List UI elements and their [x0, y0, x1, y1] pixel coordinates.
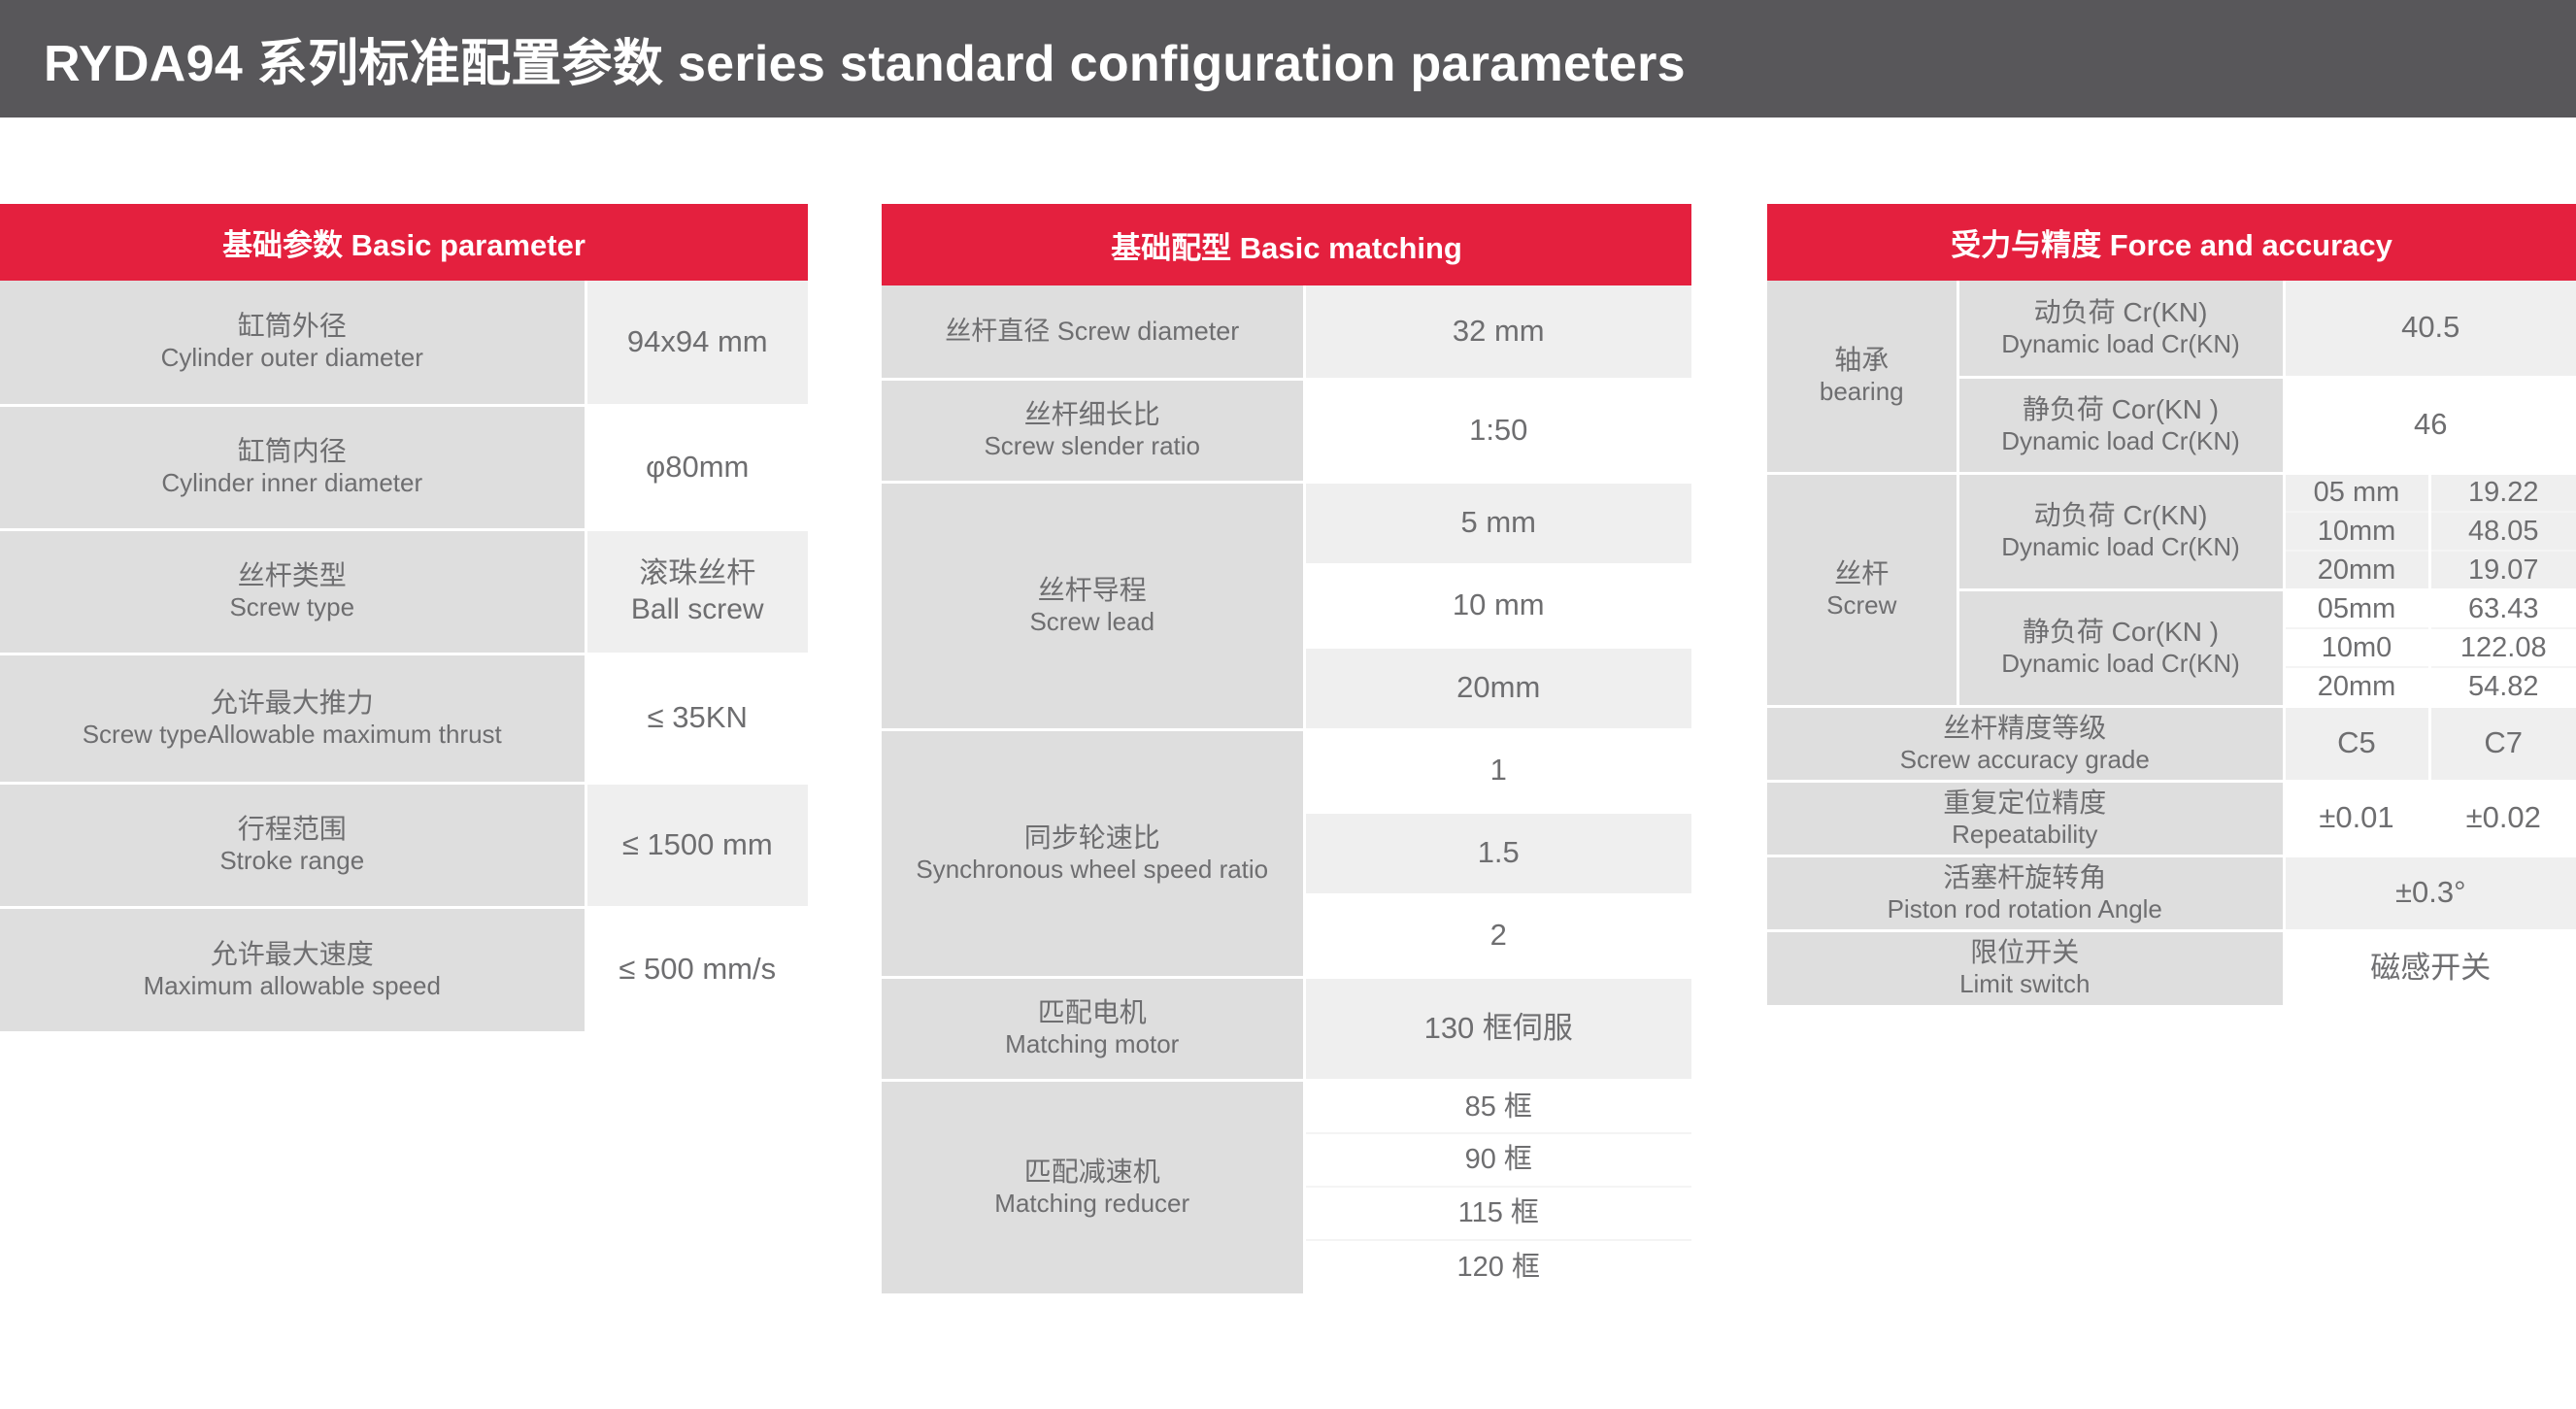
subvalue-number: 48.05 — [2429, 512, 2576, 551]
table-row: 限位开关 Limit switch 磁感开关 — [1767, 930, 2576, 1005]
table-basic-matching: 丝杆直径 Screw diameter 32 mm 丝杆细长比 Screw sl… — [882, 285, 1691, 1293]
label-en: Maximum allowable speed — [4, 971, 581, 1002]
label-cn: 动负荷 Cr(KN) — [1963, 499, 2279, 532]
row-value: 115 框 — [1304, 1187, 1691, 1240]
table-row: 匹配电机 Matching motor 130 框伺服 — [882, 977, 1691, 1080]
subvalue-number: 122.08 — [2429, 628, 2576, 667]
label-en: Screw lead — [886, 607, 1299, 638]
label-en: Stroke range — [4, 846, 581, 877]
table-row: 缸筒外径 Cylinder outer diameter 94x94 mm — [0, 281, 808, 405]
row-value: 20mm — [1304, 647, 1691, 729]
table-row: 丝杆细长比 Screw slender ratio 1:50 — [882, 379, 1691, 482]
label-en: Dynamic load Cr(KN) — [1963, 532, 2279, 563]
row-label: 动负荷 Cr(KN) Dynamic load Cr(KN) — [1957, 473, 2284, 589]
group-label-en: bearing — [1771, 377, 1953, 408]
row-value-b: C7 — [2429, 706, 2576, 781]
row-label: 丝杆类型 Screw type — [0, 529, 585, 654]
label-en: Screw slender ratio — [886, 431, 1299, 462]
row-value: 1:50 — [1304, 379, 1691, 482]
label-cn: 丝杆精度等级 — [1771, 712, 2279, 745]
row-value: 滚珠丝杆 Ball screw — [585, 529, 808, 654]
row-label: 允许最大速度 Maximum allowable speed — [0, 907, 585, 1031]
label-en: Synchronous wheel speed ratio — [886, 855, 1299, 886]
row-value-b: ±0.02 — [2429, 781, 2576, 855]
row-value: ≤ 500 mm/s — [585, 907, 808, 1031]
row-value: 2 — [1304, 894, 1691, 977]
label-cn: 限位开关 — [1771, 936, 2279, 969]
row-value: 32 mm — [1304, 285, 1691, 379]
row-label: 缸筒外径 Cylinder outer diameter — [0, 281, 585, 405]
row-label: 活塞杆旋转角 Piston rod rotation Angle — [1767, 855, 2284, 930]
row-value: ≤ 1500 mm — [585, 783, 808, 907]
row-value: ≤ 35KN — [585, 654, 808, 783]
row-label: 丝杆直径 Screw diameter — [882, 285, 1304, 379]
row-label: 动负荷 Cr(KN) Dynamic load Cr(KN) — [1957, 281, 2284, 377]
label-en: Piston rod rotation Angle — [1771, 894, 2279, 925]
label-en: Dynamic load Cr(KN) — [1963, 329, 2279, 360]
panel-header-basic-matching: 基础配型 Basic matching — [882, 204, 1691, 285]
panel-basic-parameter: 基础参数 Basic parameter 缸筒外径 Cylinder outer… — [0, 204, 808, 1031]
row-label: 丝杆精度等级 Screw accuracy grade — [1767, 706, 2284, 781]
spec-sheet-page: RYDA94 系列标准配置参数 series standard configur… — [0, 0, 2576, 1409]
subvalue-number: 19.07 — [2429, 551, 2576, 589]
row-label: 丝杆细长比 Screw slender ratio — [882, 379, 1304, 482]
table-row: 允许最大推力 Screw typeAllowable maximum thrus… — [0, 654, 808, 783]
page-title: RYDA94 系列标准配置参数 series standard configur… — [0, 22, 1686, 95]
label-cn: 允许最大速度 — [4, 938, 581, 971]
label-cn: 行程范围 — [4, 813, 581, 846]
subvalue-number: 19.22 — [2429, 473, 2576, 512]
row-label: 同步轮速比 Synchronous wheel speed ratio — [882, 729, 1304, 977]
group-label-cn: 轴承 — [1771, 344, 1953, 377]
panel-basic-matching: 基础配型 Basic matching 丝杆直径 Screw diameter … — [882, 204, 1691, 1293]
label-cn: 允许最大推力 — [4, 687, 581, 720]
table-row: 活塞杆旋转角 Piston rod rotation Angle ±0.3° — [1767, 855, 2576, 930]
label-en: Screw typeAllowable maximum thrust — [4, 720, 581, 751]
table-row: 缸筒内径 Cylinder inner diameter φ80mm — [0, 405, 808, 529]
panel-force-accuracy: 受力与精度 Force and accuracy 轴承 bearing 动负荷 … — [1767, 204, 2576, 1005]
label-en: Dynamic load Cr(KN) — [1963, 649, 2279, 680]
label-en: Dynamic load Cr(KN) — [1963, 426, 2279, 457]
page-banner: RYDA94 系列标准配置参数 series standard configur… — [0, 0, 2576, 117]
label-cn: 静负荷 Cor(KN ) — [1963, 393, 2279, 426]
label-cn: 丝杆细长比 — [886, 398, 1299, 431]
table-row: 允许最大速度 Maximum allowable speed ≤ 500 mm/… — [0, 907, 808, 1031]
row-value: 94x94 mm — [585, 281, 808, 405]
label-cn: 静负荷 Cor(KN ) — [1963, 616, 2279, 649]
label-cn: 缸筒外径 — [4, 310, 581, 343]
row-value: 130 框伺服 — [1304, 977, 1691, 1080]
table-row: 丝杆导程 Screw lead 5 mm — [882, 482, 1691, 564]
label-en: Screw type — [4, 592, 581, 623]
row-label: 缸筒内径 Cylinder inner diameter — [0, 405, 585, 529]
table-row: 同步轮速比 Synchronous wheel speed ratio 1 — [882, 729, 1691, 812]
label-en: Matching reducer — [886, 1189, 1299, 1220]
table-force-accuracy: 轴承 bearing 动负荷 Cr(KN) Dynamic load Cr(KN… — [1767, 281, 2576, 1005]
label-cn: 活塞杆旋转角 — [1771, 861, 2279, 894]
table-row: 丝杆 Screw 动负荷 Cr(KN) Dynamic load Cr(KN) … — [1767, 473, 2576, 512]
label-cn: 动负荷 Cr(KN) — [1963, 296, 2279, 329]
subvalue-key: 20mm — [2284, 551, 2429, 589]
row-value: 1 — [1304, 729, 1691, 812]
label-cn: 重复定位精度 — [1771, 787, 2279, 820]
table-row: 重复定位精度 Repeatability ±0.01 ±0.02 — [1767, 781, 2576, 855]
label-cn: 匹配减速机 — [886, 1156, 1299, 1189]
value-cn: 滚珠丝杆 — [591, 555, 805, 592]
row-value: 5 mm — [1304, 482, 1691, 564]
label-cn: 丝杆导程 — [886, 574, 1299, 607]
label-en: Cylinder outer diameter — [4, 343, 581, 374]
group-label-cn: 丝杆 — [1771, 557, 1953, 590]
table-row: 轴承 bearing 动负荷 Cr(KN) Dynamic load Cr(KN… — [1767, 281, 2576, 377]
table-row: 丝杆直径 Screw diameter 32 mm — [882, 285, 1691, 379]
label-cn: 匹配电机 — [886, 996, 1299, 1029]
label-en: Screw accuracy grade — [1771, 745, 2279, 776]
group-label-en: Screw — [1771, 590, 1953, 621]
row-label: 匹配电机 Matching motor — [882, 977, 1304, 1080]
table-row: 丝杆类型 Screw type 滚珠丝杆 Ball screw — [0, 529, 808, 654]
subvalue-key: 05 mm — [2284, 473, 2429, 512]
row-value: 10 mm — [1304, 564, 1691, 647]
label-en: Matching motor — [886, 1029, 1299, 1060]
label-cn: 丝杆类型 — [4, 559, 581, 592]
row-value: 46 — [2284, 377, 2576, 473]
label-en: Repeatability — [1771, 820, 2279, 851]
label-en: Limit switch — [1771, 969, 2279, 1000]
row-value: 90 框 — [1304, 1133, 1691, 1187]
row-label: 匹配减速机 Matching reducer — [882, 1080, 1304, 1293]
table-basic-parameter: 缸筒外径 Cylinder outer diameter 94x94 mm 缸筒… — [0, 281, 808, 1031]
row-value: 40.5 — [2284, 281, 2576, 377]
group-label-screw: 丝杆 Screw — [1767, 473, 1957, 706]
row-value: ±0.3° — [2284, 855, 2576, 930]
row-label: 丝杆导程 Screw lead — [882, 482, 1304, 729]
subvalue-number: 63.43 — [2429, 589, 2576, 628]
row-label: 限位开关 Limit switch — [1767, 930, 2284, 1005]
row-value: 120 框 — [1304, 1240, 1691, 1293]
table-row: 行程范围 Stroke range ≤ 1500 mm — [0, 783, 808, 907]
row-label: 允许最大推力 Screw typeAllowable maximum thrus… — [0, 654, 585, 783]
panel-header-force-accuracy: 受力与精度 Force and accuracy — [1767, 204, 2576, 281]
subvalue-number: 54.82 — [2429, 667, 2576, 706]
subvalue-key: 10m0 — [2284, 628, 2429, 667]
row-label: 行程范围 Stroke range — [0, 783, 585, 907]
row-value-a: C5 — [2284, 706, 2429, 781]
subvalue-key: 20mm — [2284, 667, 2429, 706]
row-label: 重复定位精度 Repeatability — [1767, 781, 2284, 855]
row-value-a: ±0.01 — [2284, 781, 2429, 855]
label-cn: 缸筒内径 — [4, 435, 581, 468]
group-label-bearing: 轴承 bearing — [1767, 281, 1957, 473]
panel-header-basic-parameter: 基础参数 Basic parameter — [0, 204, 808, 281]
value-en: Ball screw — [591, 591, 805, 628]
subvalue-key: 05mm — [2284, 589, 2429, 628]
subvalue-key: 10mm — [2284, 512, 2429, 551]
row-value: 磁感开关 — [2284, 930, 2576, 1005]
table-row: 丝杆精度等级 Screw accuracy grade C5 C7 — [1767, 706, 2576, 781]
table-row: 匹配减速机 Matching reducer 85 框 — [882, 1080, 1691, 1133]
row-value: 85 框 — [1304, 1080, 1691, 1133]
label-cn: 同步轮速比 — [886, 822, 1299, 855]
row-label: 静负荷 Cor(KN ) Dynamic load Cr(KN) — [1957, 377, 2284, 473]
label-en: Cylinder inner diameter — [4, 468, 581, 499]
row-label: 静负荷 Cor(KN ) Dynamic load Cr(KN) — [1957, 589, 2284, 706]
row-value: 1.5 — [1304, 812, 1691, 894]
row-value: φ80mm — [585, 405, 808, 529]
